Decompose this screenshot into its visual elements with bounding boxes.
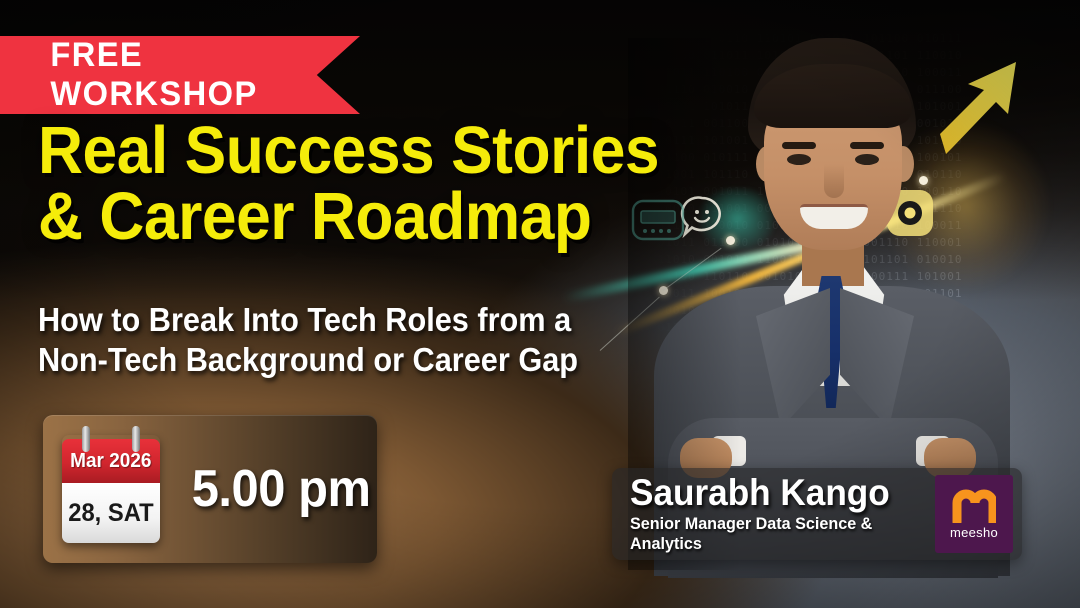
speaker-plaque: Saurabh Kango Senior Manager Data Scienc… <box>612 468 1022 560</box>
speaker-details: Saurabh Kango Senior Manager Data Scienc… <box>630 474 935 555</box>
ribbon-label: FREE WORKSHOP <box>50 36 353 114</box>
event-time: 5.00 pm <box>192 459 371 519</box>
workshop-promo-banner: 011010 100110 110101 001011 101100 01011… <box>0 0 1080 608</box>
calendar-month-year: Mar 2026 <box>70 450 151 473</box>
page-subtitle: How to Break Into Tech Roles from a Non-… <box>38 300 596 381</box>
calendar-month-header: Mar 2026 <box>62 439 160 483</box>
meesho-wordmark: meesho <box>950 525 998 540</box>
calendar-day: 28, SAT <box>68 499 153 528</box>
meesho-logo: meesho <box>935 475 1013 553</box>
calendar-icon: Mar 2026 28, SAT <box>62 435 160 543</box>
subtitle-line-2: Non-Tech Background or Career Gap <box>38 340 596 380</box>
meesho-m-mark-icon <box>952 489 996 523</box>
calendar-day-body: 28, SAT <box>62 483 160 543</box>
schedule-card: Mar 2026 28, SAT 5.00 pm <box>43 415 377 563</box>
calendar-ring-right <box>132 426 140 452</box>
speaker-role: Senior Manager Data Science & Analytics <box>630 514 920 554</box>
speaker-name: Saurabh Kango <box>630 474 920 512</box>
page-title: Real Success Stories & Career Roadmap <box>38 118 633 249</box>
headline-line-2: & Career Roadmap <box>38 184 633 250</box>
calendar-ring-left <box>82 426 90 452</box>
subtitle-line-1: How to Break Into Tech Roles from a <box>38 300 596 340</box>
headline-line-1: Real Success Stories <box>38 118 633 184</box>
free-workshop-ribbon: FREE WORKSHOP <box>0 36 360 114</box>
